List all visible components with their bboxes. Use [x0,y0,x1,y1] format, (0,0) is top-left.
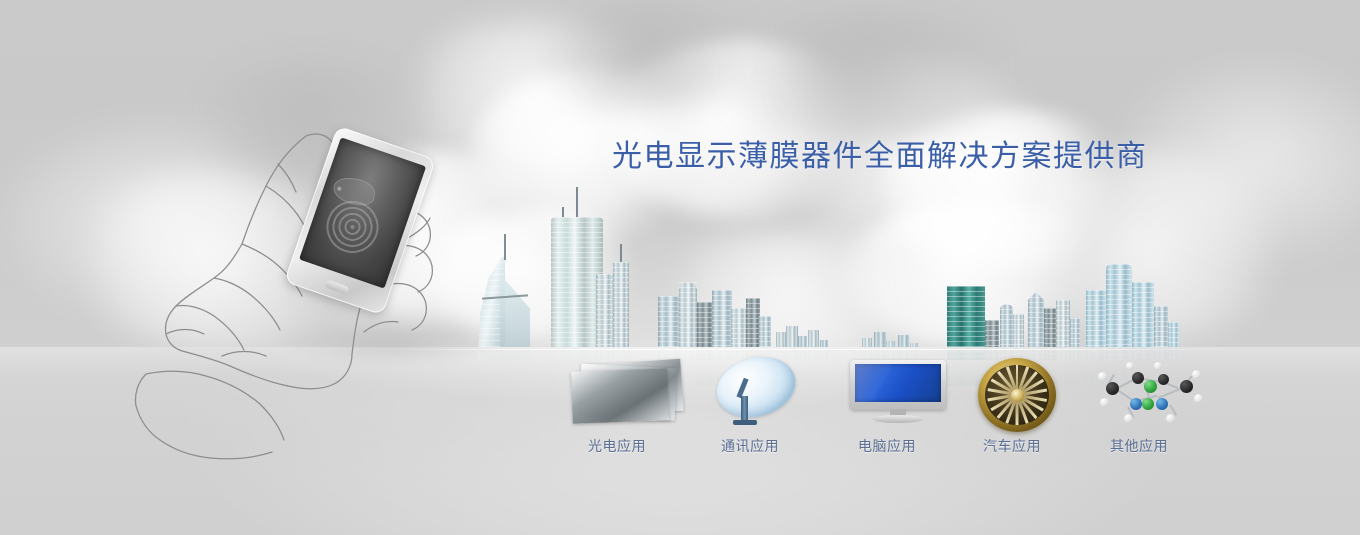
tower-mast [576,187,578,217]
hand-holding-phone [130,120,480,490]
building [613,262,629,360]
app-label-computer: 电脑应用 [858,437,916,455]
building [1106,264,1132,360]
film-panels-icon [572,360,688,422]
app-label-communication: 通讯应用 [721,437,779,455]
phone-home-button [324,279,349,294]
satellite-dish-icon [714,358,804,428]
app-label-optoelectronic: 光电应用 [588,437,646,455]
phone-ripple-effect [318,193,387,262]
tower-mast [620,244,622,262]
molecule-icon [1098,358,1206,430]
app-label-automotive: 汽车应用 [983,437,1041,455]
alloy-wheel-icon [978,358,1056,432]
monitor-icon [850,360,946,424]
page-title: 光电显示薄膜器件全面解决方案提供商 [612,138,1148,176]
app-label-other: 其他应用 [1110,437,1168,455]
tower-mast [562,207,564,217]
hero-banner: 光电显示薄膜器件全面解决方案提供商 [0,0,1360,535]
